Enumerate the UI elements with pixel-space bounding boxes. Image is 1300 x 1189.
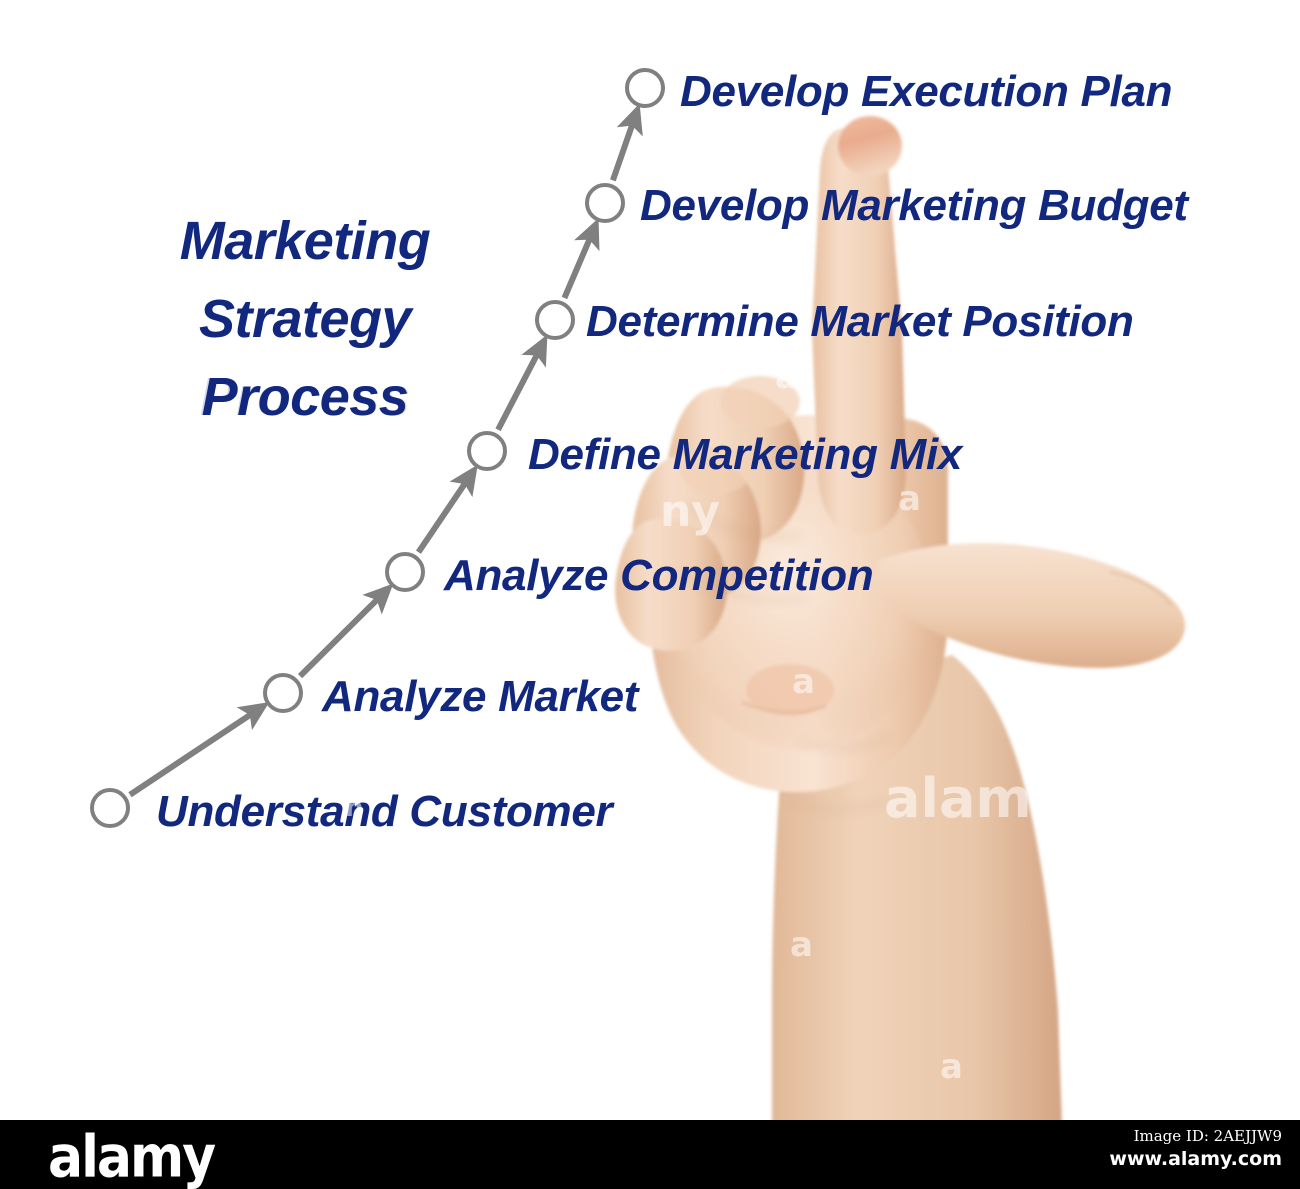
flow-arrow-4-to-5 [498, 348, 540, 429]
flow-node-5[interactable] [537, 302, 573, 338]
page-title: Marketing Strategy Process [140, 202, 470, 436]
flow-node-1[interactable] [92, 790, 128, 826]
image-id-text: Image ID: 2AEJJW9 [1109, 1126, 1282, 1147]
step-label-4[interactable]: Define Marketing Mix [528, 433, 962, 477]
step-label-3[interactable]: Analyze Competition [444, 554, 873, 598]
title-line-3: Process [140, 358, 470, 436]
title-line-2: Strategy [140, 280, 470, 358]
flow-node-3[interactable] [387, 554, 423, 590]
alamy-url-text[interactable]: www.alamy.com [1109, 1147, 1282, 1171]
step-label-7[interactable]: Develop Execution Plan [680, 70, 1172, 114]
screenshot-canvas: Process Marketing Strategy Process Under… [0, 0, 1300, 1189]
flow-arrow-3-to-4 [418, 477, 469, 552]
footer-credits: Image ID: 2AEJJW9 www.alamy.com [1109, 1126, 1282, 1171]
footer-bar: alamy Image ID: 2AEJJW9 www.alamy.com [0, 1120, 1300, 1189]
flow-node-7[interactable] [627, 70, 663, 106]
step-label-2[interactable]: Analyze Market [322, 675, 638, 719]
step-label-6[interactable]: Develop Marketing Budget [640, 184, 1188, 228]
alamy-logo: alamy [48, 1126, 214, 1189]
step-label-1[interactable]: Understand Customer [156, 790, 612, 834]
step-label-5[interactable]: Determine Market Position [586, 300, 1134, 344]
flow-arrow-5-to-6 [564, 232, 592, 298]
flow-node-6[interactable] [587, 185, 623, 221]
flow-node-4[interactable] [469, 433, 505, 469]
flow-node-2[interactable] [265, 675, 301, 711]
flow-arrow-1-to-2 [130, 711, 256, 795]
title-line-1: Marketing [140, 202, 470, 280]
flow-arrow-6-to-7 [613, 118, 635, 180]
flow-arrow-2-to-3 [300, 595, 382, 677]
